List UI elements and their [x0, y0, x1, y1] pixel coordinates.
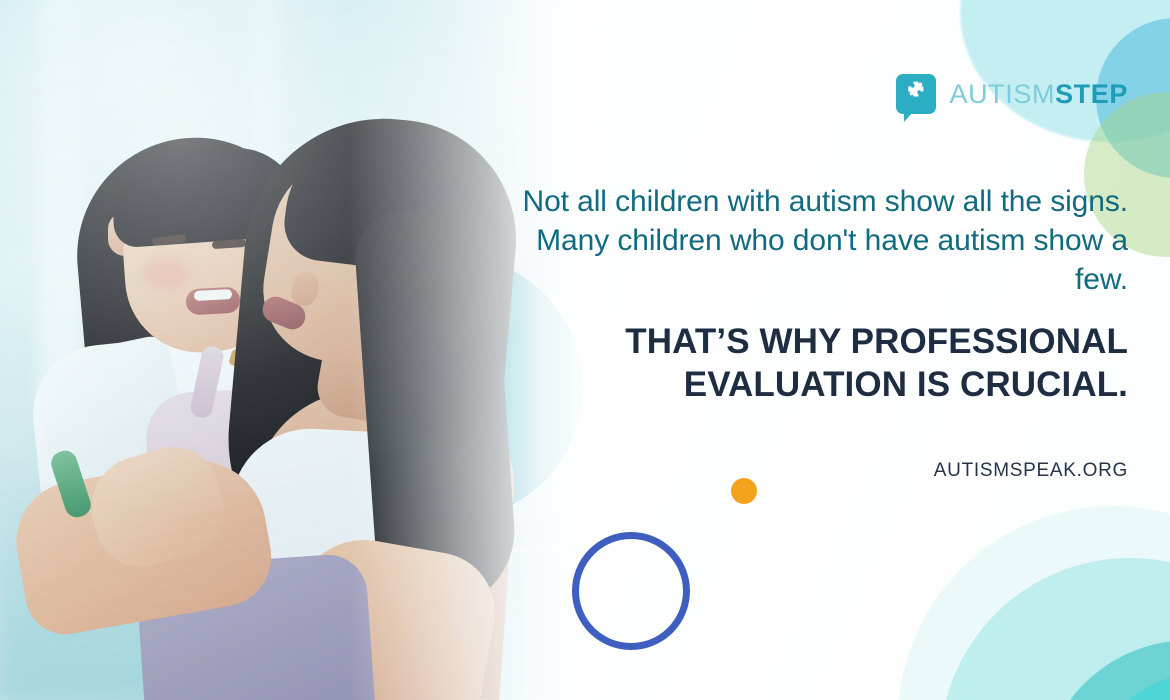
awareness-banner: AUTISMSTEP Not all children with autism …	[0, 0, 1170, 700]
brand-name-light: AUTISM	[949, 79, 1055, 109]
blue-ring-outline-decoration	[572, 532, 690, 650]
brand-name-bold: STEP	[1055, 79, 1128, 109]
puzzle-speech-bubble-icon	[896, 74, 936, 114]
brand-wordmark: AUTISMSTEP	[949, 81, 1128, 108]
website-url[interactable]: AUTISMSPEAK.ORG	[508, 460, 1128, 482]
headline: THAT’S WHY PROFESSIONAL EVALUATION IS CR…	[508, 321, 1128, 406]
lede-paragraph: Not all children with autism show all th…	[508, 182, 1128, 299]
copy-block: Not all children with autism show all th…	[508, 182, 1128, 482]
brand-logo[interactable]: AUTISMSTEP	[896, 74, 1128, 114]
